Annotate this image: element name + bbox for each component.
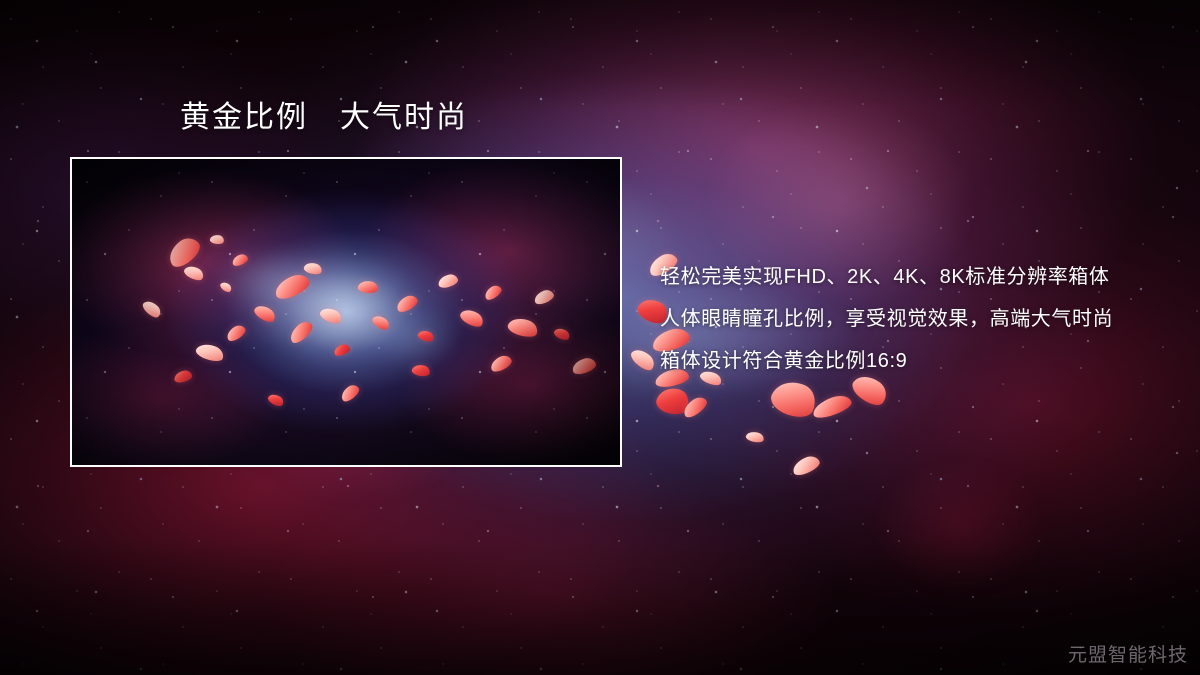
petal-shape (628, 345, 657, 374)
petal-shape (654, 384, 692, 419)
body-line: 箱体设计符合黄金比例16:9 (660, 340, 1160, 382)
image-panel (70, 157, 622, 467)
body-line: 轻松完美实现FHD、2K、4K、8K标准分辨率箱体 (660, 256, 1160, 298)
presentation-slide: 黄金比例 大气时尚 轻松完美实现FHD、2K、4K、8K标准分辨率箱体 人体眼睛… (0, 0, 1200, 675)
petal-shape (680, 394, 709, 420)
watermark: 元盟智能科技 (1068, 640, 1188, 667)
body-line: 人体眼睛瞳孔比例，享受视觉效果，高端大气时尚 (660, 298, 1160, 340)
petal-shape (810, 392, 853, 421)
panel-vignette (72, 159, 620, 465)
body-copy: 轻松完美实现FHD、2K、4K、8K标准分辨率箱体 人体眼睛瞳孔比例，享受视觉效… (660, 256, 1160, 382)
page-title: 黄金比例 大气时尚 (180, 101, 468, 134)
petal-shape (790, 453, 822, 477)
petal-shape (745, 430, 765, 444)
